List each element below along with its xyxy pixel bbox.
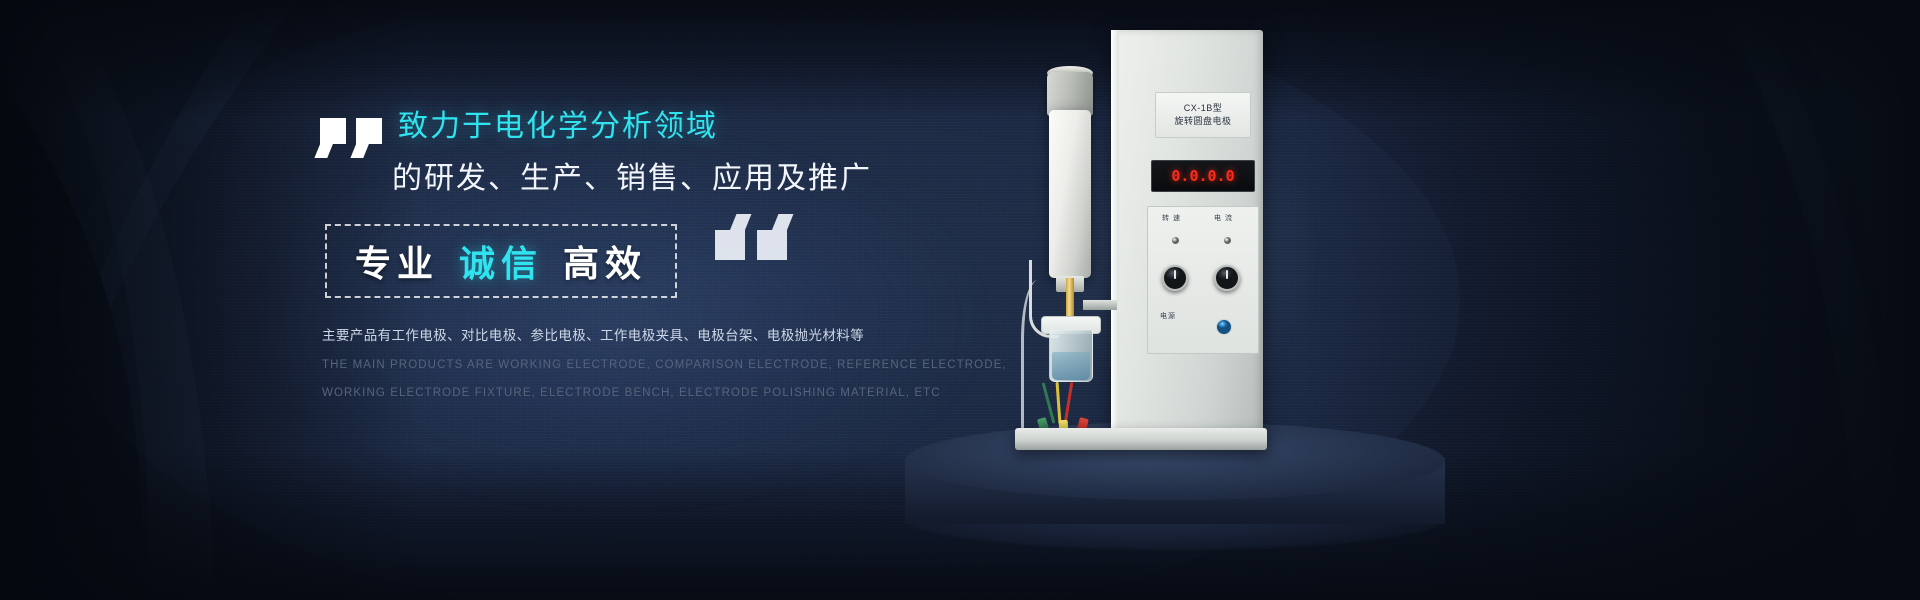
slogan-word-1: 专业	[355, 235, 439, 287]
control-panel: 转 速 电 流 电源	[1147, 206, 1259, 354]
knob-speed[interactable]	[1162, 265, 1188, 291]
device-panel-edge	[1111, 30, 1119, 434]
slogan-box: 专业 诚信 高效	[325, 224, 677, 298]
banner-root: 致力于电化学分析领域 的研发、生产、销售、应用及推广 专业 诚信 高效 主要产品…	[0, 0, 1920, 600]
description-chinese: 主要产品有工作电极、对比电极、参比电极、工作电极夹具、电极台架、电极抛光材料等	[322, 326, 960, 346]
quote-glyph-4	[715, 214, 745, 260]
headline-line-1: 致力于电化学分析领域	[398, 104, 960, 150]
device-model-line-2: 旋转圆盘电极	[1174, 115, 1231, 128]
device-base	[1015, 428, 1267, 450]
description-english-line-2: WORKING ELECTRODE FIXTURE, ELECTRODE BEN…	[322, 384, 960, 402]
description-english-line-1: THE MAIN PRODUCTS ARE WORKING ELECTRODE,…	[322, 356, 960, 374]
power-button[interactable]	[1216, 319, 1232, 335]
lcd-value: 0.0.0.0	[1171, 167, 1234, 185]
device-name-plate: CX-1B型 旋转圆盘电极	[1155, 92, 1251, 138]
screw-left	[1172, 237, 1179, 244]
screw-right	[1224, 237, 1231, 244]
control-label-current: 电 流	[1214, 213, 1233, 223]
rotator-column	[1049, 110, 1091, 278]
slogan-text: 专业 诚信 高效	[355, 235, 647, 287]
electrode-shaft	[1066, 278, 1074, 318]
lcd-display: 0.0.0.0	[1151, 160, 1255, 192]
quote-glyph-1	[320, 118, 346, 158]
slogan-word-3: 高效	[563, 235, 647, 287]
slogan-word-2: 诚信	[459, 235, 543, 287]
stand-arm	[1083, 300, 1117, 310]
banner-copy: 致力于电化学分析领域 的研发、生产、销售、应用及推广 专业 诚信 高效 主要产品…	[320, 104, 960, 402]
cell-electrolyte	[1052, 352, 1090, 380]
headline-line-2: 的研发、生产、销售、应用及推广	[392, 156, 960, 202]
device-model-line-1: CX-1B型	[1184, 102, 1223, 115]
quote-close-icon	[715, 214, 787, 260]
quote-open-icon	[320, 118, 382, 158]
power-label: 电源	[1160, 311, 1176, 321]
control-label-speed: 转 速	[1162, 213, 1181, 223]
wire-red	[1064, 382, 1074, 424]
knob-current[interactable]	[1214, 265, 1240, 291]
quote-glyph-3	[757, 214, 787, 260]
product-image: CX-1B型 旋转圆盘电极 0.0.0.0 转 速 电 流 电源	[905, 30, 1465, 550]
quote-glyph-2	[356, 118, 382, 158]
electrode-device: CX-1B型 旋转圆盘电极 0.0.0.0 转 速 电 流 电源	[1023, 30, 1263, 450]
